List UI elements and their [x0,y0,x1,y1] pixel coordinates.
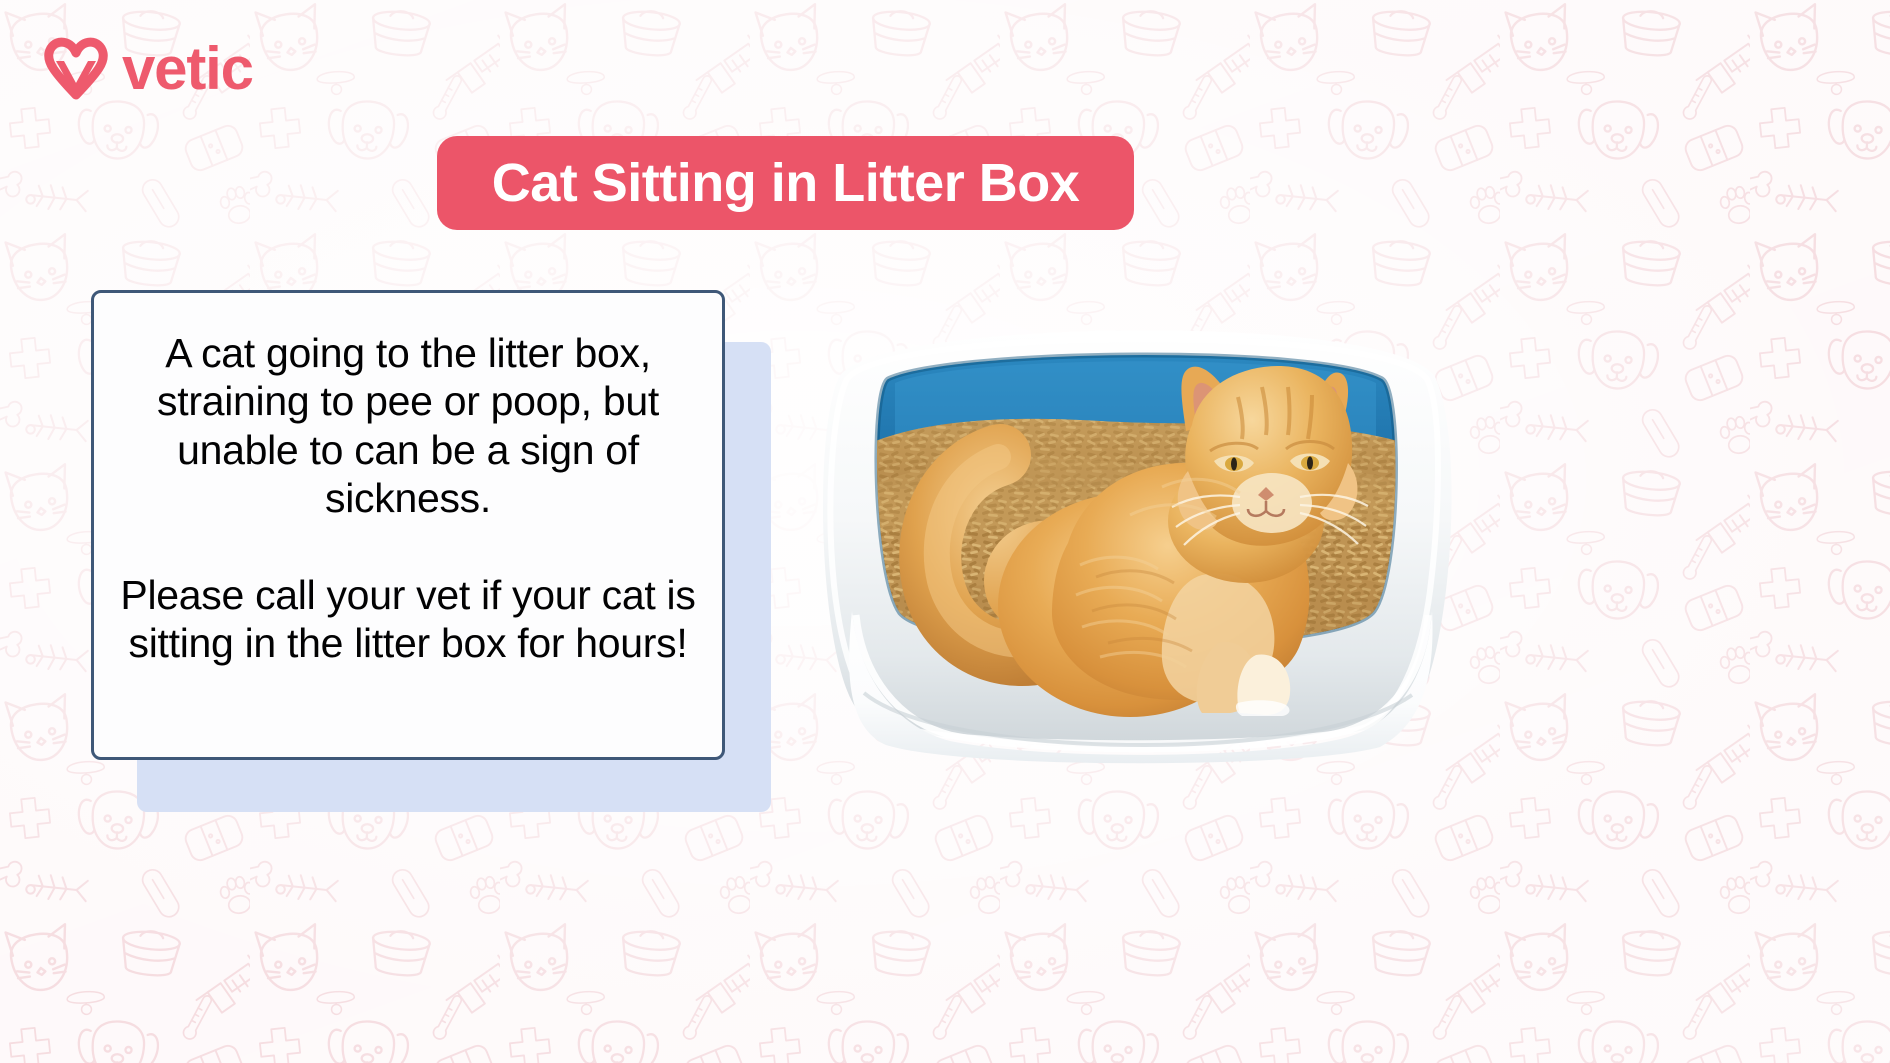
heart-v-icon [44,31,108,103]
info-card-container: A cat going to the litter box, straining… [91,290,725,760]
cat-head [1172,366,1368,546]
page-title: Cat Sitting in Litter Box [492,156,1080,210]
title-banner: Cat Sitting in Litter Box [437,136,1134,230]
card-paragraph-2: Please call your vet if your cat is sitt… [120,571,696,668]
brand-logo[interactable]: vetic [44,31,253,103]
brand-name: vetic [122,39,253,99]
poster-canvas: vetic Cat Sitting in Litter Box A cat go… [0,0,1890,1063]
cat-muzzle [1232,473,1312,533]
info-card: A cat going to the litter box, straining… [91,290,725,760]
card-paragraph-1: A cat going to the litter box, straining… [120,329,696,523]
orange-cat-sitting-in-litter-box-photo [800,275,1470,765]
